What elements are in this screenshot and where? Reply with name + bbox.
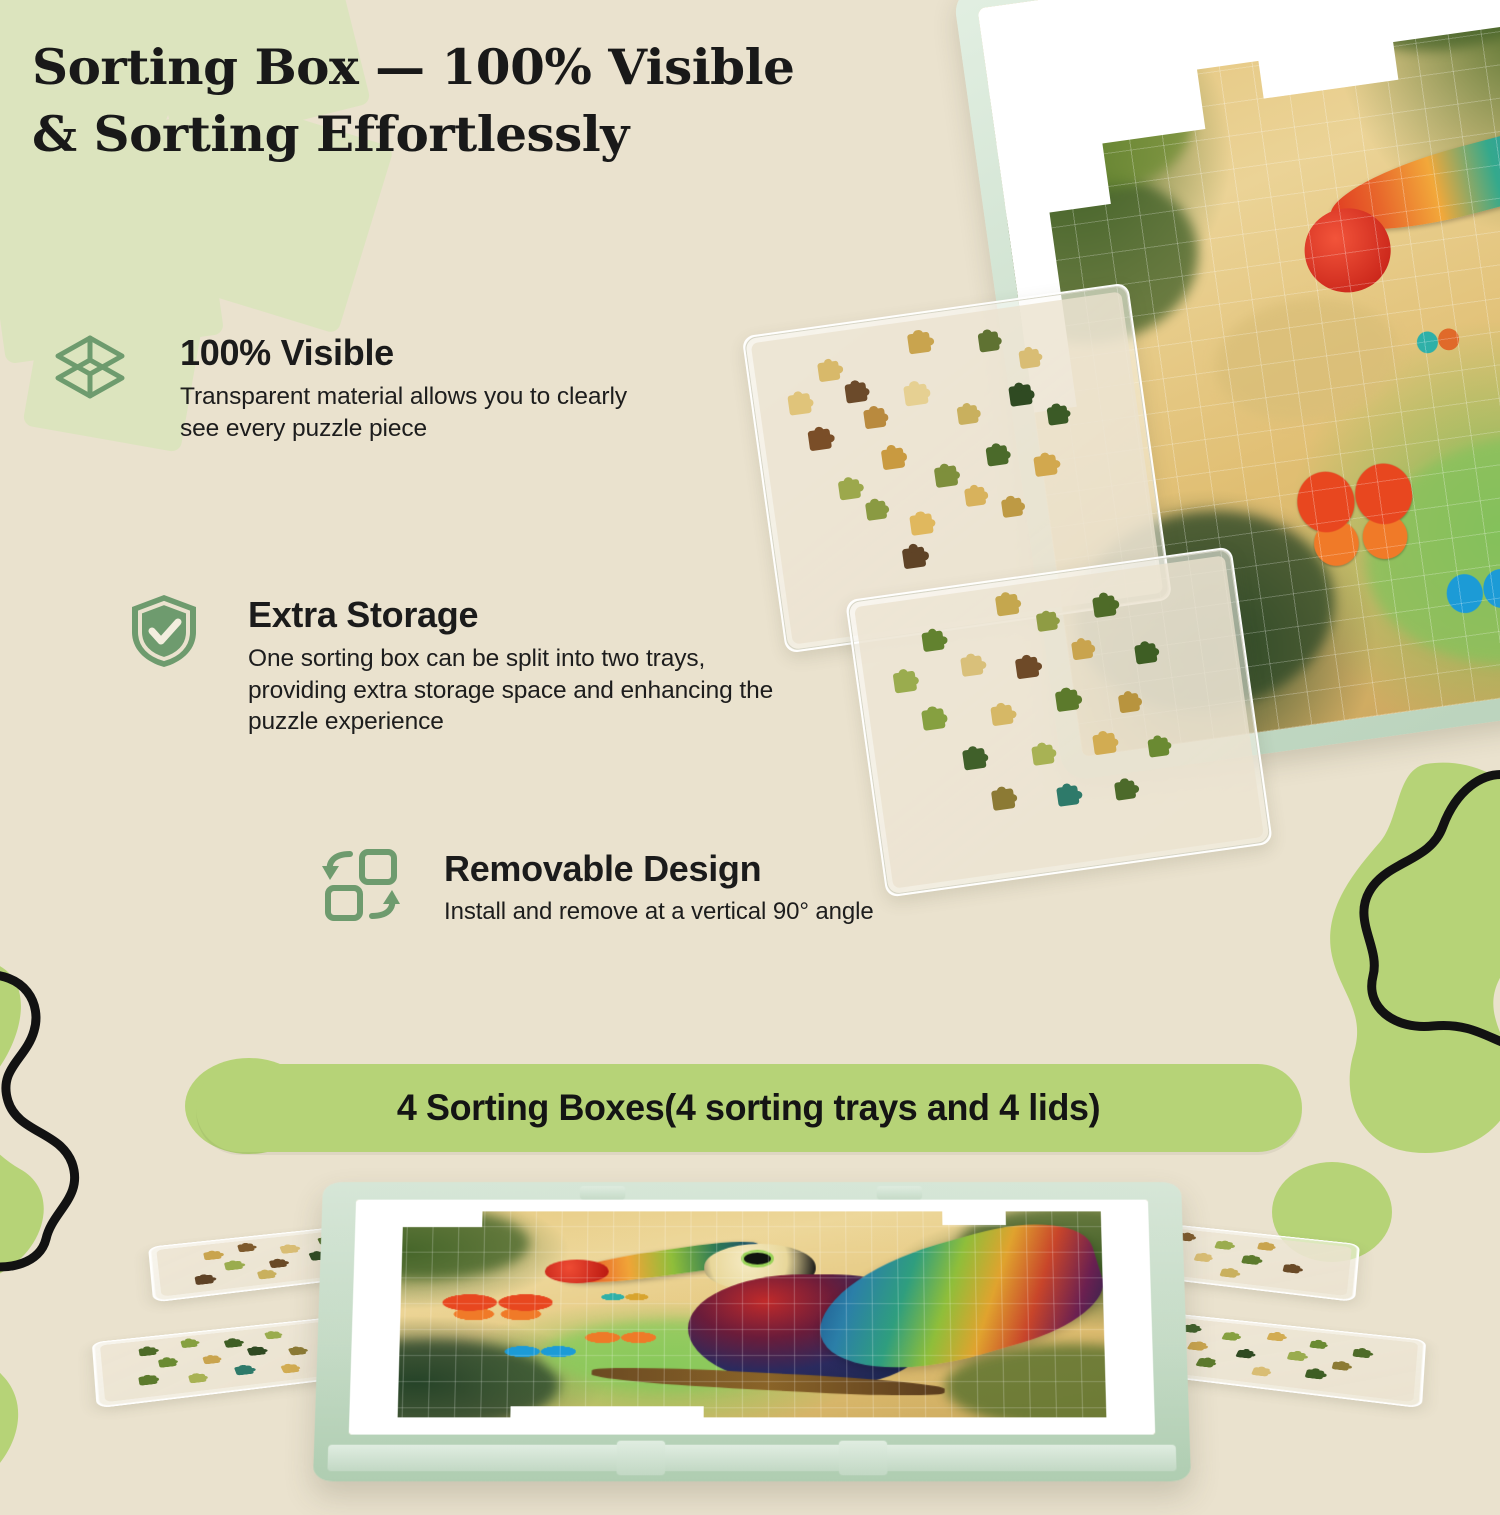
board-hinge-knob-left [616, 1441, 665, 1476]
feature-description-line-1: Transparent material allows you to clear… [180, 381, 627, 413]
feature-title: Removable Design [444, 850, 874, 888]
sorting-boxes-banner: 4 Sorting Boxes(4 sorting trays and 4 li… [196, 1064, 1302, 1152]
feature-description-line-1: One sorting box can be split into two tr… [248, 643, 773, 675]
swap-squares-icon [322, 848, 400, 927]
sorting-tray-bottom [845, 546, 1273, 897]
feature-description: One sorting box can be split into two tr… [248, 643, 773, 739]
page-title: Sorting Box — 100% Visible & Sorting Eff… [32, 34, 950, 167]
feature-description-line-2: providing extra storage space and enhanc… [248, 675, 773, 707]
board-hinge-knob-right [839, 1441, 888, 1476]
feature-description: Transparent material allows you to clear… [180, 381, 627, 445]
feature-description-line-1: Install and remove at a vertical 90° ang… [444, 896, 874, 927]
shield-check-icon [128, 592, 200, 675]
decor-squiggle-right [1285, 768, 1500, 1058]
bottom-product-scene [0, 1170, 1500, 1500]
board-hinge-top [580, 1186, 626, 1200]
feature-block-removable: Removable Design Install and remove at a… [322, 848, 874, 927]
assembled-puzzle-board [313, 1182, 1191, 1481]
feature-block-visible: 100% Visible Transparent material allows… [52, 330, 627, 444]
poster-canvas: Sorting Box — 100% Visible & Sorting Eff… [0, 0, 1500, 1500]
feature-description-line-2: see every puzzle piece [180, 413, 627, 445]
page-title-line-2: & Sorting Effortlessly [32, 101, 950, 168]
feature-description: Install and remove at a vertical 90° ang… [444, 896, 874, 927]
board-hinge-top-right [877, 1186, 923, 1200]
feature-title: 100% Visible [180, 334, 627, 372]
feature-block-storage: Extra Storage One sorting box can be spl… [128, 592, 773, 738]
feature-title: Extra Storage [248, 596, 773, 634]
layers-icon [52, 330, 128, 411]
board-hinge-bar [327, 1445, 1176, 1471]
page-title-line-1: Sorting Box — 100% Visible [32, 34, 950, 101]
toucan-artwork [349, 1200, 1156, 1435]
feature-description-line-3: puzzle experience [248, 706, 773, 738]
board-surface [349, 1200, 1156, 1435]
banner-label: 4 Sorting Boxes(4 sorting trays and 4 li… [397, 1087, 1100, 1129]
